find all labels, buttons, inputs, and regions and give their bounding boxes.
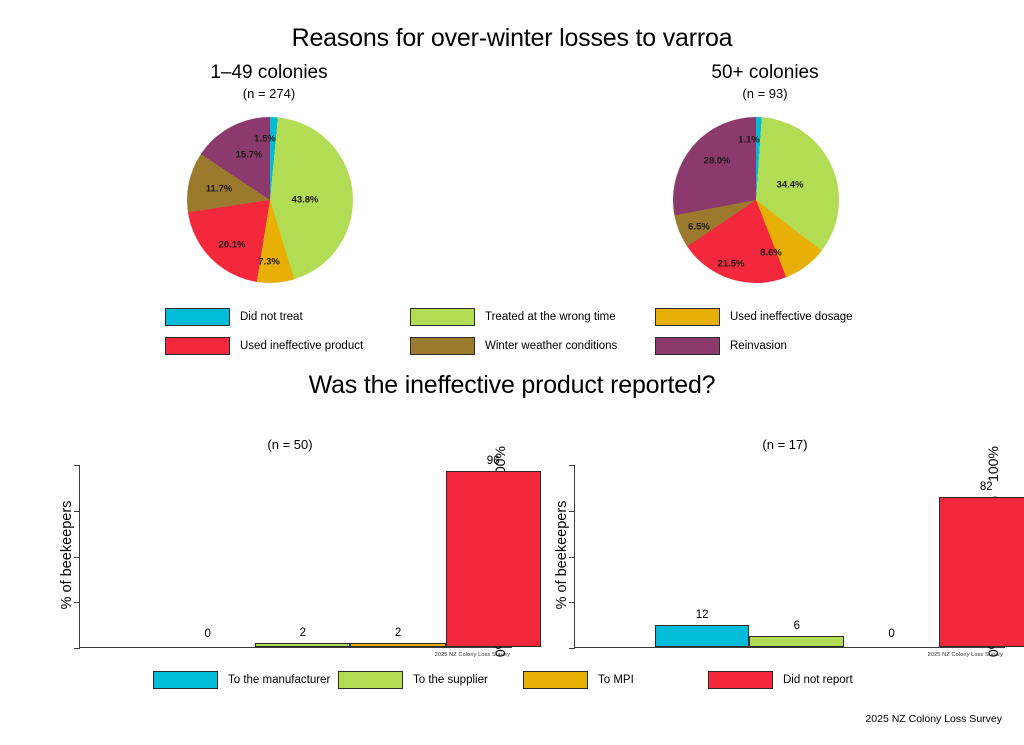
bar-left-bar-value: 2 xyxy=(300,627,306,639)
pie-right-slice-label: 21.5% xyxy=(718,259,745,270)
pie-left-slice-label: 15.7% xyxy=(236,150,263,161)
pie-legend-item[interactable]: Used ineffective product xyxy=(165,333,410,358)
pie-legend-item[interactable]: Did not treat xyxy=(165,304,410,329)
bar-right-ytick xyxy=(569,557,575,558)
bar-right-ytick xyxy=(569,511,575,512)
pie-left-heading: 1–49 colonies xyxy=(119,62,419,84)
legend-swatch-icon xyxy=(523,671,588,689)
legend-swatch-icon xyxy=(153,671,218,689)
pie-left-slice-label: 7.3% xyxy=(258,257,280,268)
pie-left-slice-label: 43.8% xyxy=(292,195,319,206)
bar-right-yaxis-title: % of beekeepers xyxy=(554,465,570,645)
pie-legend-item[interactable]: Used ineffective dosage xyxy=(655,304,880,329)
bar-right-ytick xyxy=(569,648,575,649)
bar-legend-label: Did not report xyxy=(783,674,853,686)
bar-right-bar[interactable] xyxy=(655,625,750,647)
bar-left-ytick xyxy=(74,557,80,558)
legend-swatch-icon xyxy=(708,671,773,689)
pie-legend-label: Used ineffective product xyxy=(240,340,363,352)
pie-left-slice-label: 11.7% xyxy=(206,184,232,195)
pie-right-slice-label: 8.6% xyxy=(760,248,782,259)
bar-left-ytick xyxy=(74,648,80,649)
pie-legend-label: Reinvasion xyxy=(730,340,787,352)
pie-legend-label: Used ineffective dosage xyxy=(730,311,853,323)
bar-legend-item[interactable]: To MPI xyxy=(523,671,708,689)
section-title-reported: Was the ineffective product reported? xyxy=(0,371,1024,400)
pie-legend: Did not treatTreated at the wrong timeUs… xyxy=(165,304,880,358)
legend-swatch-icon xyxy=(410,337,475,355)
legend-swatch-icon xyxy=(165,308,230,326)
bar-right-bar-value: 82 xyxy=(980,481,993,493)
bar-right-bar[interactable] xyxy=(939,497,1024,647)
bar-legend-item[interactable]: To the manufacturer xyxy=(153,671,338,689)
pie-right-slice-label: 28.0% xyxy=(704,156,731,167)
bar-right-bar-value: 0 xyxy=(888,628,894,640)
bar-left-yaxis-title: % of beekeepers xyxy=(59,465,75,645)
pie-legend-label: Treated at the wrong time xyxy=(485,311,616,323)
bar-left-bar[interactable] xyxy=(255,643,350,647)
pie-chart-50-plus-colonies: 1.1%34.4%8.6%21.5%6.5%28.0% xyxy=(673,117,839,283)
bar-left-ytick xyxy=(74,465,80,466)
pie-legend-label: Did not treat xyxy=(240,311,303,323)
pie-right-heading: 50+ colonies xyxy=(615,62,915,84)
bar-right-ytick xyxy=(569,465,575,466)
pie-legend-label: Winter weather conditions xyxy=(485,340,617,352)
bar-legend-item[interactable]: To the supplier xyxy=(338,671,523,689)
bar-legend-item[interactable]: Did not report xyxy=(708,671,893,689)
bar-left-bar[interactable] xyxy=(350,643,445,647)
bar-right-ytick xyxy=(569,602,575,603)
footer-credit: 2025 NZ Colony Loss Survey xyxy=(865,713,1002,725)
pie-right-slice-label: 34.4% xyxy=(777,180,804,191)
bar-left-ytick xyxy=(74,511,80,512)
bar-right-title: (n = 17) xyxy=(665,437,905,452)
bar-legend: To the manufacturerTo the supplierTo MPI… xyxy=(153,671,893,689)
legend-swatch-icon xyxy=(410,308,475,326)
bar-left-bar-value: 0 xyxy=(204,628,210,640)
bar-left-bar-value: 96 xyxy=(487,455,500,467)
pie-left-slice-label: 1.5% xyxy=(254,134,276,145)
legend-swatch-icon xyxy=(655,308,720,326)
legend-swatch-icon xyxy=(655,337,720,355)
bar-left-title: (n = 50) xyxy=(170,437,410,452)
bar-right-bar-value: 12 xyxy=(696,609,709,621)
bar-right-bar[interactable] xyxy=(749,636,844,647)
bar-legend-label: To MPI xyxy=(598,674,634,686)
pie-legend-item[interactable]: Treated at the wrong time xyxy=(410,304,655,329)
pie-legend-item[interactable]: Winter weather conditions xyxy=(410,333,655,358)
pie-legend-item[interactable]: Reinvasion xyxy=(655,333,880,358)
bar-chart-n50: % of beekeepers 2025 NZ Colony Loss Surv… xyxy=(79,465,512,648)
pie-right-slice-label: 1.1% xyxy=(738,135,760,146)
legend-swatch-icon xyxy=(165,337,230,355)
bar-legend-label: To the supplier xyxy=(413,674,488,686)
pie-left-subheading: (n = 274) xyxy=(119,86,419,101)
bar-chart-n17: % of beekeepers 2025 NZ Colony Loss Surv… xyxy=(574,465,1005,648)
pie-right-slice-label: 6.5% xyxy=(688,222,710,233)
pie-left-slice-label: 20.1% xyxy=(219,240,246,251)
page-title: Reasons for over-winter losses to varroa xyxy=(0,24,1024,53)
bar-left-ytick xyxy=(74,602,80,603)
pie-right-subheading: (n = 93) xyxy=(615,86,915,101)
bar-left-bar[interactable] xyxy=(446,471,541,647)
bar-legend-label: To the manufacturer xyxy=(228,674,330,686)
pie-chart-1-49-colonies: 1.5%43.8%7.3%20.1%11.7%15.7% xyxy=(187,117,353,283)
bar-left-bar-value: 2 xyxy=(395,627,401,639)
legend-swatch-icon xyxy=(338,671,403,689)
bar-right-bar-value: 6 xyxy=(794,620,800,632)
